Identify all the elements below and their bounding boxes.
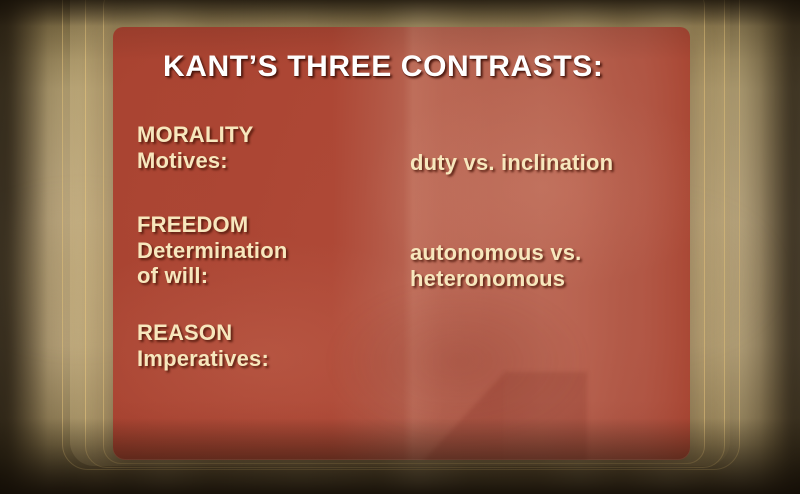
edge-vignette — [0, 0, 800, 494]
slide-canvas: KANT’S THREE CONTRASTS: MORALITY Motives… — [0, 0, 800, 494]
